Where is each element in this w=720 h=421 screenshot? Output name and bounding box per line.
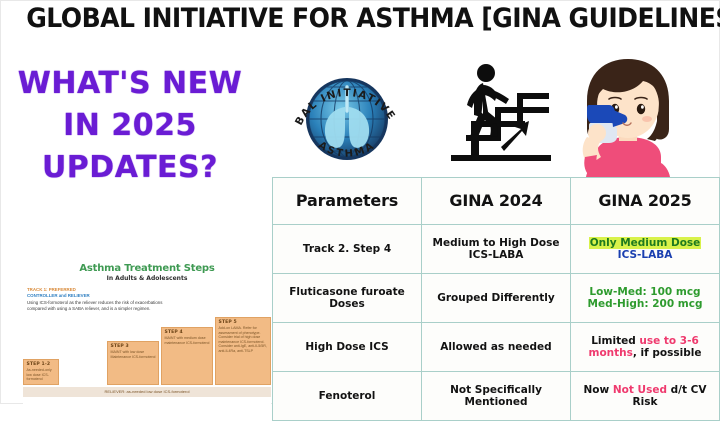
cell-parameter: Fluticasone furoate Doses: [273, 274, 422, 323]
doc-step-name: STEP 1-2: [27, 362, 56, 367]
doc-track-text: TRACK 1: PREFERRED CONTROLLER and RELIEV…: [27, 287, 177, 313]
person-climbing-stairs-icon: [439, 55, 557, 173]
doc-footer-bar: RELIEVER: as-needed low dose ICS-formote…: [23, 387, 271, 397]
table-row: High Dose ICS Allowed as needed Limited …: [273, 323, 720, 372]
gina-comparison-table: Parameters GINA 2024 GINA 2025 Track 2. …: [272, 177, 720, 421]
cell-gina-2024: Not Specifically Mentioned: [422, 372, 571, 421]
doc-step-body: MAINT with low dose Maintenance ICS-form…: [111, 350, 156, 359]
table-header-row: Parameters GINA 2024 GINA 2025: [273, 178, 720, 225]
doc-step-box: STEP 4 MAINT with medium dose maintenanc…: [161, 327, 213, 385]
doc-step-body: Add-on LAMA. Refer for assessment of phe…: [219, 326, 268, 354]
doc-track-label: TRACK 1: PREFERRED: [27, 287, 76, 292]
girl-using-inhaler-illustration: [567, 53, 689, 177]
doc-step-body: As-needed-only low dose ICS-formoterol: [27, 368, 56, 382]
highlight-chip: Only Medium Dose: [589, 237, 702, 249]
doc-step-name: STEP 5: [219, 320, 268, 325]
table-row: Track 2. Step 4 Medium to High Dose ICS-…: [273, 225, 720, 274]
cell-gina-2025: Low-Med: 100 mcg Med-High: 200 mcg: [571, 274, 720, 323]
table-row: Fenoterol Not Specifically Mentioned Now…: [273, 372, 720, 421]
table-row: Fluticasone furoate Doses Grouped Differ…: [273, 274, 720, 323]
headline-block: WHAT'S NEW IN 2025 UPDATES?: [5, 63, 255, 189]
cell-gina-2025: Now Not Used d/t CV Risk: [571, 372, 720, 421]
column-header-parameters: Parameters: [273, 178, 422, 225]
cell-gina-2024: Allowed as needed: [422, 323, 571, 372]
doc-step-box: STEP 1-2 As-needed-only low dose ICS-for…: [23, 359, 59, 385]
cell-parameter: Fenoterol: [273, 372, 422, 421]
cell-gina-2025: Limited use to 3-6 months, if possible: [571, 323, 720, 372]
doc-title: Asthma Treatment Steps: [23, 263, 271, 274]
cell-gina-2024: Medium to High Dose ICS-LABA: [422, 225, 571, 274]
column-header-gina-2024: GINA 2024: [422, 178, 571, 225]
asthma-treatment-steps-document: Asthma Treatment Steps In Adults & Adole…: [23, 259, 271, 405]
cell-parameter: Track 2. Step 4: [273, 225, 422, 274]
doc-track-body: Using ICS-formoterol as the reliever red…: [27, 300, 162, 311]
cell-gina-2025: Only Medium Dose ICS-LABA: [571, 225, 720, 274]
headline-line-2: IN 2025: [5, 105, 255, 147]
cell-parameter: High Dose ICS: [273, 323, 422, 372]
doc-subtitle: In Adults & Adolescents: [23, 275, 271, 282]
doc-step-body: MAINT with medium dose maintenance ICS-f…: [165, 336, 210, 345]
gina-logo: GLOBAL INITIATIVE FOR ASTHMA: [282, 55, 412, 180]
infographic-page: GLOBAL INITIATIVE FOR ASTHMA [GINA GUIDE…: [0, 0, 720, 404]
headline-line-3: UPDATES?: [5, 147, 255, 189]
gina-logo-icon: GLOBAL INITIATIVE FOR ASTHMA: [282, 55, 412, 180]
doc-step-name: STEP 4: [165, 330, 210, 335]
doc-track-line2: CONTROLLER and RELIEVER: [27, 293, 90, 298]
cell-gina-2024: Grouped Differently: [422, 274, 571, 323]
doc-step-box: STEP 5 Add-on LAMA. Refer for assessment…: [215, 317, 271, 385]
doc-step-name: STEP 3: [111, 344, 156, 349]
doc-step-box: STEP 3 MAINT with low dose Maintenance I…: [107, 341, 159, 385]
doc-footer-text: RELIEVER: as-needed low dose ICS-formote…: [23, 387, 271, 397]
page-title: GLOBAL INITIATIVE FOR ASTHMA [GINA GUIDE…: [26, 3, 696, 34]
headline-line-1: WHAT'S NEW: [5, 63, 255, 105]
column-header-gina-2025: GINA 2025: [571, 178, 720, 225]
